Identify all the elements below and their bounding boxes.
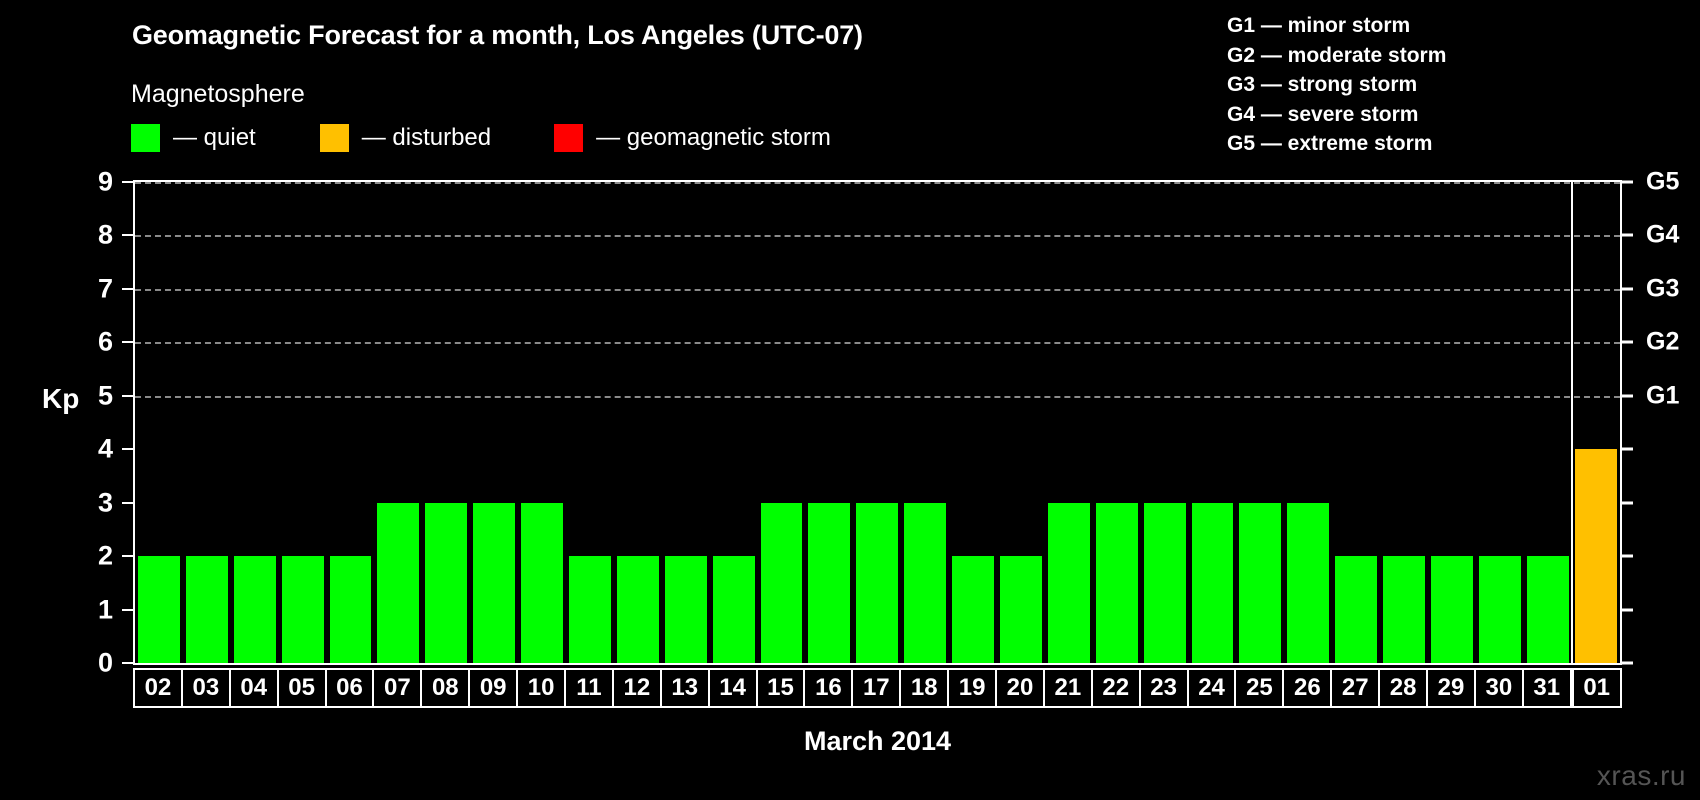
day-label-19[interactable]: 19 — [947, 668, 997, 708]
month-divider — [1571, 182, 1573, 663]
bar[interactable] — [330, 556, 372, 663]
day-label-04[interactable]: 04 — [229, 668, 279, 708]
legend-label-storm: — geomagnetic storm — [596, 124, 831, 152]
right-tick-label-G2: G2 — [1646, 328, 1679, 357]
bar[interactable] — [186, 556, 228, 663]
right-tick-mark-kp-2 — [1622, 555, 1633, 558]
bar-cell[interactable] — [1380, 182, 1428, 663]
right-tick-mark-G4 — [1622, 234, 1633, 237]
day-label-29[interactable]: 29 — [1426, 668, 1476, 708]
right-tick-mark-kp-4 — [1622, 448, 1633, 451]
bar[interactable] — [1287, 503, 1329, 663]
y-tick-label-6: 6 — [73, 327, 113, 358]
y-tick-label-4: 4 — [73, 434, 113, 465]
y-tick-mark-3 — [122, 502, 133, 504]
bar[interactable] — [856, 503, 898, 663]
day-label-31[interactable]: 31 — [1522, 668, 1572, 708]
bar-cell[interactable] — [1284, 182, 1332, 663]
y-tick-mark-2 — [122, 555, 133, 557]
day-label-24[interactable]: 24 — [1187, 668, 1237, 708]
bar[interactable] — [1527, 556, 1569, 663]
bar[interactable] — [952, 556, 994, 663]
bar-cell[interactable] — [662, 182, 710, 663]
bar-cell[interactable] — [949, 182, 997, 663]
bar-cell[interactable] — [1189, 182, 1237, 663]
bar-cell[interactable] — [374, 182, 422, 663]
right-tick-label-G3: G3 — [1646, 274, 1679, 303]
gscale-line-g4: G4 — severe storm — [1227, 100, 1446, 130]
bar[interactable] — [1383, 556, 1425, 663]
day-label-02[interactable]: 02 — [133, 668, 183, 708]
bar[interactable] — [904, 503, 946, 663]
bar-cell[interactable] — [135, 182, 183, 663]
y-tick-label-0: 0 — [73, 648, 113, 679]
y-tick-mark-6 — [122, 341, 133, 343]
bar[interactable] — [1192, 503, 1234, 663]
day-label-10[interactable]: 10 — [516, 668, 566, 708]
day-label-25[interactable]: 25 — [1234, 668, 1284, 708]
day-label-17[interactable]: 17 — [851, 668, 901, 708]
bar[interactable] — [1048, 503, 1090, 663]
day-label-09[interactable]: 09 — [468, 668, 518, 708]
day-label-07[interactable]: 07 — [372, 668, 422, 708]
bar-cell[interactable] — [279, 182, 327, 663]
y-tick-label-1: 1 — [73, 594, 113, 625]
bar-cell[interactable] — [1524, 182, 1572, 663]
right-tick-mark-G1 — [1622, 394, 1633, 397]
day-label-08[interactable]: 08 — [420, 668, 470, 708]
gscale-line-g2: G2 — moderate storm — [1227, 41, 1446, 71]
bar[interactable] — [1335, 556, 1377, 663]
bar-cell[interactable] — [1141, 182, 1189, 663]
bar[interactable] — [521, 503, 563, 663]
bar[interactable] — [713, 556, 755, 663]
y-tick-label-8: 8 — [73, 220, 113, 251]
bar-cell[interactable] — [758, 182, 806, 663]
gscale-line-g3: G3 — strong storm — [1227, 70, 1446, 100]
y-tick-label-2: 2 — [73, 541, 113, 572]
bar[interactable] — [282, 556, 324, 663]
bar-cell[interactable] — [1572, 182, 1620, 663]
plot-area — [133, 180, 1622, 665]
bar-cell[interactable] — [1428, 182, 1476, 663]
y-tick-mark-5 — [122, 395, 133, 397]
bar-cell[interactable] — [1236, 182, 1284, 663]
bar[interactable] — [761, 503, 803, 663]
right-tick-mark-G5 — [1622, 181, 1633, 184]
y-tick-label-7: 7 — [73, 273, 113, 304]
bar[interactable] — [569, 556, 611, 663]
day-label-03[interactable]: 03 — [181, 668, 231, 708]
bar-cell[interactable] — [422, 182, 470, 663]
legend-item-quiet: — quiet — [131, 124, 256, 152]
bar-cell[interactable] — [710, 182, 758, 663]
bar[interactable] — [1096, 503, 1138, 663]
day-label-22[interactable]: 22 — [1091, 668, 1141, 708]
day-label-27[interactable]: 27 — [1330, 668, 1380, 708]
y-axis-title: Kp — [42, 383, 79, 415]
right-tick-mark-G2 — [1622, 341, 1633, 344]
legend-item-disturbed: — disturbed — [320, 124, 491, 152]
bar-cell[interactable] — [183, 182, 231, 663]
bar[interactable] — [665, 556, 707, 663]
gscale-line-g1: G1 — minor storm — [1227, 11, 1446, 41]
day-label-26[interactable]: 26 — [1282, 668, 1332, 708]
bar[interactable] — [617, 556, 659, 663]
y-tick-mark-9 — [122, 181, 133, 183]
bar[interactable] — [138, 556, 180, 663]
x-axis-title: March 2014 — [133, 726, 1622, 757]
right-tick-mark-kp-3 — [1622, 501, 1633, 504]
legend-label-quiet: — quiet — [173, 124, 256, 152]
y-tick-label-3: 3 — [73, 487, 113, 518]
y-tick-mark-1 — [122, 609, 133, 611]
bar-cell[interactable] — [614, 182, 662, 663]
day-label-21[interactable]: 21 — [1043, 668, 1093, 708]
day-label-14[interactable]: 14 — [708, 668, 758, 708]
bar[interactable] — [1479, 556, 1521, 663]
bar[interactable] — [234, 556, 276, 663]
y-tick-mark-4 — [122, 448, 133, 450]
right-tick-mark-G3 — [1622, 287, 1633, 290]
day-label-18[interactable]: 18 — [899, 668, 949, 708]
magnetosphere-legend: — quiet — disturbed — geomagnetic storm — [131, 124, 831, 152]
x-axis-day-labels: 0203040506070809101112131415161718192021… — [133, 668, 1622, 708]
bar-cell[interactable] — [997, 182, 1045, 663]
bar[interactable] — [473, 503, 515, 663]
day-label-15[interactable]: 15 — [756, 668, 806, 708]
bar-cell[interactable] — [1093, 182, 1141, 663]
bar-cell[interactable] — [327, 182, 375, 663]
day-label-30[interactable]: 30 — [1474, 668, 1524, 708]
bar-cell[interactable] — [1476, 182, 1524, 663]
right-tick-mark-kp-0 — [1622, 662, 1633, 665]
quiet-swatch — [131, 124, 160, 152]
right-tick-label-G5: G5 — [1646, 168, 1679, 197]
legend-item-storm: — geomagnetic storm — [554, 124, 831, 152]
day-label-23[interactable]: 23 — [1139, 668, 1189, 708]
day-label-28[interactable]: 28 — [1378, 668, 1428, 708]
bar-cell[interactable] — [1332, 182, 1380, 663]
day-label-05[interactable]: 05 — [277, 668, 327, 708]
day-label-01[interactable]: 01 — [1572, 668, 1622, 708]
y-tick-mark-8 — [122, 234, 133, 236]
gscale-line-g5: G5 — extreme storm — [1227, 129, 1446, 159]
bar[interactable] — [1239, 503, 1281, 663]
bar[interactable] — [1144, 503, 1186, 663]
right-tick-label-G1: G1 — [1646, 381, 1679, 410]
y-tick-mark-7 — [122, 288, 133, 290]
day-label-13[interactable]: 13 — [660, 668, 710, 708]
bar-cell[interactable] — [1045, 182, 1093, 663]
watermark: xras.ru — [1597, 760, 1686, 792]
bar[interactable] — [808, 503, 850, 663]
bar-cell[interactable] — [518, 182, 566, 663]
bar-series — [135, 182, 1620, 663]
bar-cell[interactable] — [470, 182, 518, 663]
bar[interactable] — [1575, 449, 1617, 663]
bar[interactable] — [425, 503, 467, 663]
gscale-legend: G1 — minor storm G2 — moderate storm G3 … — [1227, 11, 1446, 159]
bar[interactable] — [1431, 556, 1473, 663]
y-tick-label-9: 9 — [73, 167, 113, 198]
storm-swatch — [554, 124, 583, 152]
bar-cell[interactable] — [901, 182, 949, 663]
bar[interactable] — [1000, 556, 1042, 663]
day-label-06[interactable]: 06 — [325, 668, 375, 708]
bar-cell[interactable] — [805, 182, 853, 663]
bar[interactable] — [377, 503, 419, 663]
day-label-11[interactable]: 11 — [564, 668, 614, 708]
disturbed-swatch — [320, 124, 349, 152]
day-label-12[interactable]: 12 — [612, 668, 662, 708]
bar-cell[interactable] — [231, 182, 279, 663]
right-tick-label-G4: G4 — [1646, 221, 1679, 250]
bar-cell[interactable] — [566, 182, 614, 663]
right-tick-mark-kp-1 — [1622, 608, 1633, 611]
legend-heading: Magnetosphere — [131, 80, 305, 109]
y-tick-mark-0 — [122, 662, 133, 664]
page-title: Geomagnetic Forecast for a month, Los An… — [132, 20, 863, 51]
bar-cell[interactable] — [853, 182, 901, 663]
day-label-20[interactable]: 20 — [995, 668, 1045, 708]
day-label-16[interactable]: 16 — [803, 668, 853, 708]
legend-label-disturbed: — disturbed — [362, 124, 491, 152]
